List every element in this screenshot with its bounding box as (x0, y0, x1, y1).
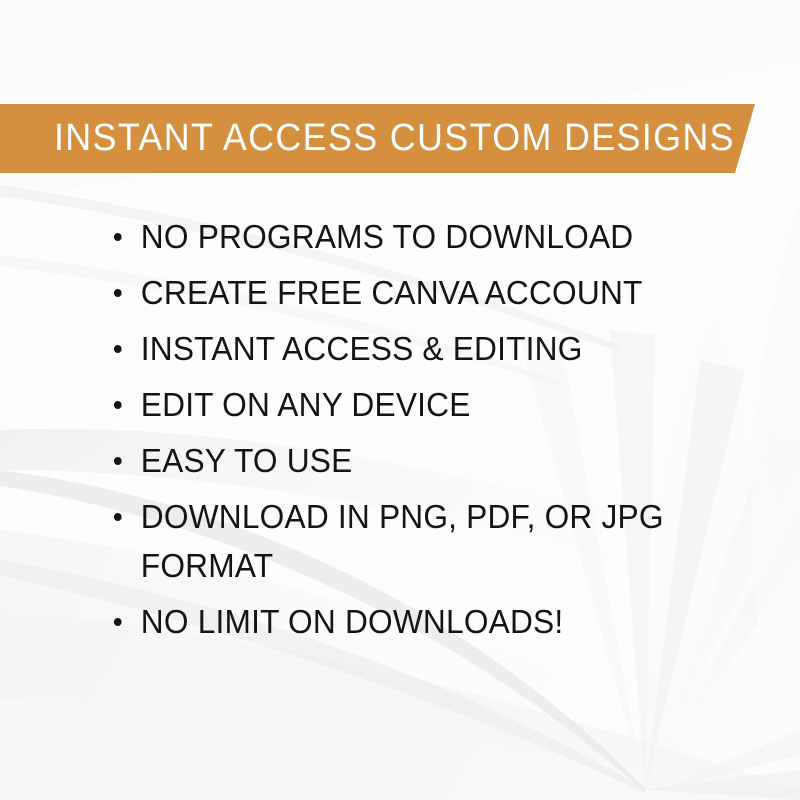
list-item-label: NO PROGRAMS TO DOWNLOAD (141, 218, 634, 255)
list-item: NO PROGRAMS TO DOWNLOAD (112, 212, 688, 261)
poster-canvas: INSTANT ACCESS CUSTOM DESIGNS NO PROGRAM… (0, 0, 800, 800)
bullet-dot-icon (114, 513, 122, 521)
bullet-dot-icon (114, 618, 122, 626)
feature-list: NO PROGRAMS TO DOWNLOAD CREATE FREE CANV… (112, 212, 712, 653)
list-item-label: CREATE FREE CANVA ACCOUNT (141, 274, 643, 311)
list-item-label: EASY TO USE (141, 442, 353, 479)
bullet-dot-icon (114, 401, 122, 409)
list-item: NO LIMIT ON DOWNLOADS! (112, 597, 688, 646)
list-item: CREATE FREE CANVA ACCOUNT (112, 268, 688, 317)
list-item-label: EDIT ON ANY DEVICE (141, 386, 471, 423)
bullet-dot-icon (114, 345, 122, 353)
list-item: EASY TO USE (112, 436, 688, 485)
list-item-label: NO LIMIT ON DOWNLOADS! (141, 603, 564, 640)
list-item: EDIT ON ANY DEVICE (112, 380, 688, 429)
banner: INSTANT ACCESS CUSTOM DESIGNS (0, 104, 760, 173)
banner-title: INSTANT ACCESS CUSTOM DESIGNS (54, 104, 735, 173)
list-item: INSTANT ACCESS & EDITING (112, 324, 688, 373)
list-item: DOWNLOAD IN PNG, PDF, OR JPG FORMAT (112, 492, 688, 590)
list-item-label: INSTANT ACCESS & EDITING (141, 330, 583, 367)
bullet-dot-icon (114, 457, 122, 465)
bullet-dot-icon (114, 289, 122, 297)
list-item-label: DOWNLOAD IN PNG, PDF, OR JPG FORMAT (141, 498, 664, 584)
bullet-dot-icon (114, 233, 122, 241)
